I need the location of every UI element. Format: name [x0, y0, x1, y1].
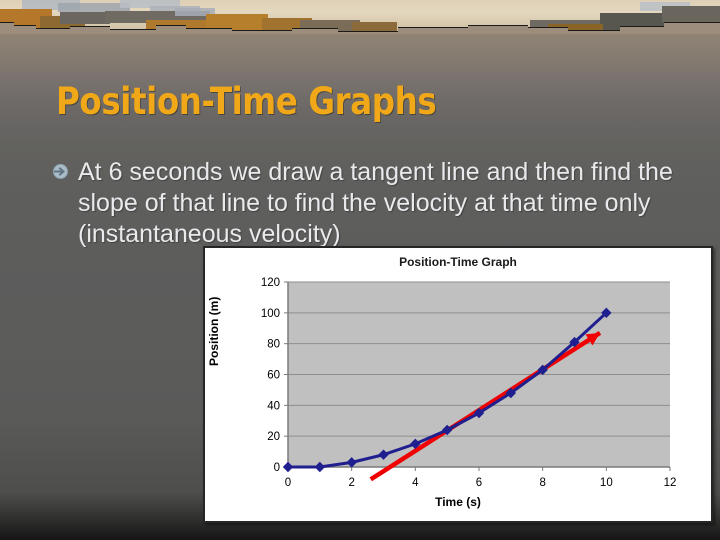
- band-tear-outline: [0, 22, 14, 23]
- y-tick-label: 60: [267, 370, 280, 382]
- slide-title: Position-Time Graphs: [56, 80, 584, 123]
- band-tear-outline: [398, 27, 468, 28]
- x-tick-label: 8: [539, 477, 545, 489]
- band-tear-outline: [70, 26, 110, 27]
- x-tick-label: 10: [600, 477, 613, 489]
- y-tick-label: 100: [261, 308, 280, 320]
- band-ridge: [60, 12, 110, 24]
- bullet-text: At 6 seconds we draw a tangent line and …: [78, 157, 676, 250]
- band-tear-edge: [70, 26, 110, 34]
- band-tear-edge: [528, 27, 568, 34]
- position-time-chart: Position-Time Graph Position (m) Time (s…: [203, 246, 713, 523]
- band-tear-edge: [468, 25, 528, 34]
- chart-x-tick-labels: 024681012: [285, 477, 677, 489]
- y-tick-label: 120: [261, 277, 280, 289]
- bullet-item: At 6 seconds we draw a tangent line and …: [52, 157, 676, 250]
- band-tear-edge: [620, 26, 664, 34]
- band-tear-edge: [156, 25, 186, 34]
- arrow-circle-bullet-icon: [52, 157, 78, 180]
- band-tear-outline: [620, 26, 664, 27]
- x-tick-label: 6: [476, 477, 482, 489]
- band-tear-edge: [0, 22, 14, 34]
- x-tick-label: 0: [285, 477, 291, 489]
- band-ridge: [662, 6, 720, 22]
- chart-y-tick-labels: 020406080100120: [261, 277, 280, 474]
- y-tick-label: 80: [267, 339, 280, 351]
- chart-plot: 020406080100120 024681012: [205, 248, 711, 521]
- slide-body: At 6 seconds we draw a tangent line and …: [52, 157, 676, 250]
- band-tear-outline: [338, 31, 398, 32]
- y-tick-label: 0: [274, 462, 280, 474]
- band-tear-outline: [468, 25, 528, 26]
- decorative-photo-band: [0, 0, 720, 34]
- presentation-slide: Position-Time Graphs At 6 seconds we dra…: [0, 0, 720, 540]
- x-tick-label: 12: [664, 477, 677, 489]
- x-tick-label: 2: [348, 477, 354, 489]
- band-tear-outline: [528, 27, 568, 28]
- y-tick-label: 20: [267, 431, 280, 443]
- band-tear-outline: [14, 25, 36, 26]
- band-tear-outline: [186, 28, 232, 29]
- y-tick-label: 40: [267, 400, 280, 412]
- band-tear-outline: [156, 25, 186, 26]
- band-tear-edge: [14, 25, 36, 34]
- band-tear-outline: [232, 30, 292, 31]
- band-tear-outline: [568, 30, 620, 31]
- band-tear-outline: [110, 29, 156, 30]
- x-tick-label: 4: [412, 477, 419, 489]
- band-tear-outline: [292, 28, 338, 29]
- band-tear-edge: [398, 27, 468, 34]
- band-tear-outline: [36, 28, 70, 29]
- band-tear-edge: [664, 22, 720, 34]
- band-tear-outline: [664, 22, 720, 23]
